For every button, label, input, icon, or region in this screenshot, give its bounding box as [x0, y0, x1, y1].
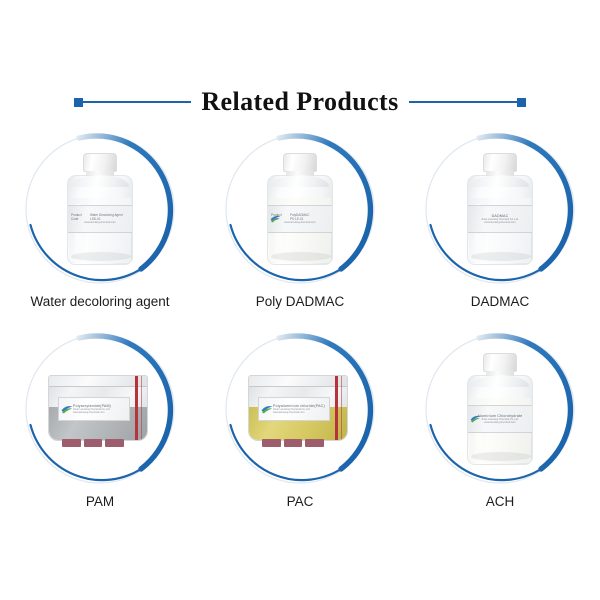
header-rule-line-left [83, 101, 191, 103]
product-image: Aluminium ChlorohydrateJinan Lanxiang Ch… [433, 338, 567, 480]
pouch-seal-clips [262, 439, 324, 447]
product-bottle: ProductPolyDADMACCodePD LE-01www.lanxian… [267, 153, 333, 265]
label-line: www.lanxiang-chemical.com [471, 221, 529, 224]
header-rule-right [409, 96, 526, 108]
seal-clip [262, 439, 281, 447]
bottle-label: Aluminium ChlorohydrateJinan Lanxiang Ch… [468, 405, 532, 433]
page-title: Related Products [201, 89, 398, 115]
product-bottle: Aluminium ChlorohydrateJinan Lanxiang Ch… [467, 353, 533, 465]
header-rule-left [74, 96, 191, 108]
bottle-label: DADMACJinan Lanxiang Chemical Co.,Ltd.ww… [468, 205, 532, 233]
bottle-base-shadow [271, 252, 331, 261]
label-line: www.lanxiang-chemical.com [471, 421, 529, 424]
product-card[interactable]: DADMACJinan Lanxiang Chemical Co.,Ltd.ww… [400, 130, 600, 330]
bottle-cap [483, 353, 517, 372]
seal-clip [105, 439, 124, 447]
product-caption: Poly DADMAC [256, 294, 345, 310]
company-logo-icon [61, 404, 73, 414]
product-bottle: ProductWater Decoloring AgentCodeLSD-01w… [67, 153, 133, 265]
label-line: www.lanxiang-chemical.com [73, 411, 127, 414]
pouch-label: Polyacrylamide(PAM)Jinan Lanxiang Chemic… [58, 397, 130, 421]
pouch-seal-clips [62, 439, 124, 447]
bottle-cap [83, 153, 117, 172]
product-thumbnail[interactable]: ProductWater Decoloring AgentCodeLSD-01w… [21, 130, 179, 288]
product-caption: PAM [86, 494, 114, 510]
product-card[interactable]: Polyaluminium chloride(PAC)Jinan Lanxian… [200, 330, 400, 530]
label-line: www.lanxiang-chemical.com [273, 411, 327, 414]
bottle-label: ProductPolyDADMACCodePD LE-01www.lanxian… [268, 205, 332, 233]
bottle-base-shadow [71, 252, 131, 261]
company-logo-icon [261, 404, 273, 414]
bottle-label: ProductWater Decoloring AgentCodeLSD-01w… [68, 205, 132, 233]
bottle-base-shadow [471, 252, 531, 261]
product-image: Polyacrylamide(PAM)Jinan Lanxiang Chemic… [33, 338, 167, 480]
pouch-zipper [49, 376, 147, 387]
pouch-label: Polyaluminium chloride(PAC)Jinan Lanxian… [258, 397, 330, 421]
pouch-red-stripe [335, 376, 338, 440]
seal-clip [62, 439, 81, 447]
seal-clip [84, 439, 103, 447]
product-image: ProductWater Decoloring AgentCodeLSD-01w… [33, 138, 167, 280]
section-header: Related Products [0, 82, 600, 122]
pouch-zipper [249, 376, 347, 387]
product-pouch: Polyacrylamide(PAM)Jinan Lanxiang Chemic… [48, 371, 152, 447]
label-footer: www.lanxiang-chemical.com [271, 221, 329, 224]
product-pouch: Polyaluminium chloride(PAC)Jinan Lanxian… [248, 371, 352, 447]
pouch-red-stripe-thin [341, 376, 342, 440]
pouch-red-stripe-thin [141, 376, 142, 440]
seal-clip [305, 439, 324, 447]
header-rule-cap-right [517, 98, 526, 107]
bottle-cap [483, 153, 517, 172]
header-rule-line-right [409, 101, 517, 103]
product-card[interactable]: ProductWater Decoloring AgentCodeLSD-01w… [0, 130, 200, 330]
product-caption: DADMAC [471, 294, 530, 310]
product-caption: PAC [287, 494, 314, 510]
product-thumbnail[interactable]: Polyacrylamide(PAM)Jinan Lanxiang Chemic… [21, 330, 179, 488]
product-caption: Water decoloring agent [30, 294, 169, 310]
product-card[interactable]: Polyacrylamide(PAM)Jinan Lanxiang Chemic… [0, 330, 200, 530]
bottle-base-shadow [471, 452, 531, 461]
label-footer: www.lanxiang-chemical.com [71, 221, 129, 224]
header-rule-cap-left [74, 98, 83, 107]
related-products-page: Related Products ProductWater Decoloring… [0, 0, 600, 600]
product-grid: ProductWater Decoloring AgentCodeLSD-01w… [0, 130, 600, 530]
product-bottle: DADMACJinan Lanxiang Chemical Co.,Ltd.ww… [467, 153, 533, 265]
seal-clip [284, 439, 303, 447]
bottle-cap [283, 153, 317, 172]
product-thumbnail[interactable]: Polyaluminium chloride(PAC)Jinan Lanxian… [221, 330, 379, 488]
product-image: ProductPolyDADMACCodePD LE-01www.lanxian… [233, 138, 367, 280]
product-card[interactable]: ProductPolyDADMACCodePD LE-01www.lanxian… [200, 130, 400, 330]
product-thumbnail[interactable]: DADMACJinan Lanxiang Chemical Co.,Ltd.ww… [421, 130, 579, 288]
product-thumbnail[interactable]: Aluminium ChlorohydrateJinan Lanxiang Ch… [421, 330, 579, 488]
product-card[interactable]: Aluminium ChlorohydrateJinan Lanxiang Ch… [400, 330, 600, 530]
pouch-red-stripe [135, 376, 138, 440]
product-image: DADMACJinan Lanxiang Chemical Co.,Ltd.ww… [433, 138, 567, 280]
product-image: Polyaluminium chloride(PAC)Jinan Lanxian… [233, 338, 367, 480]
product-thumbnail[interactable]: ProductPolyDADMACCodePD LE-01www.lanxian… [221, 130, 379, 288]
product-caption: ACH [486, 494, 515, 510]
